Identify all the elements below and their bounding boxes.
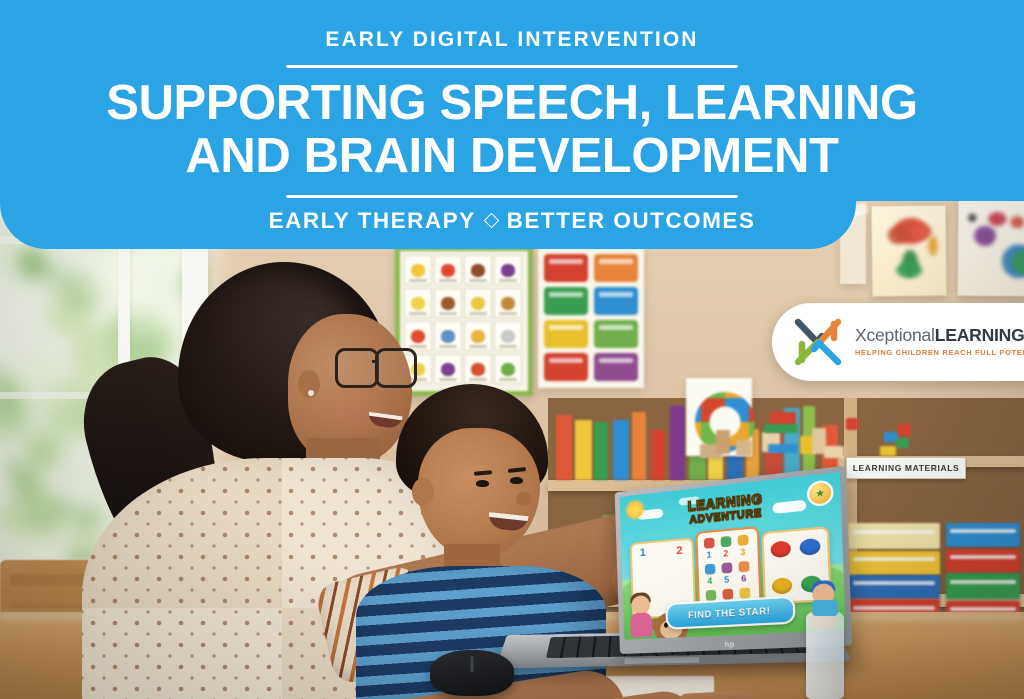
logo-name-bold: LEARNING <box>935 325 1024 345</box>
banner-headline: SUPPORTING SPEECH, LEARNING AND BRAIN DE… <box>106 77 917 183</box>
find-the-star-label: FIND THE STAR! <box>688 606 771 621</box>
banner-eyebrow: EARLY DIGITAL INTERVENTION <box>325 28 698 52</box>
color-dot-red[interactable] <box>770 540 791 558</box>
wooden-block <box>896 438 909 448</box>
grid-number[interactable]: 4 <box>707 575 712 586</box>
hp-logo: hp <box>725 641 735 649</box>
wooden-block <box>880 446 896 456</box>
game-avatar-girl <box>626 592 657 638</box>
grid-number[interactable]: 1 <box>706 549 711 560</box>
wooden-block <box>716 430 730 454</box>
grid-number[interactable]: 6 <box>741 573 746 584</box>
banner-subline: EARLY THERAPY BETTER OUTCOMES <box>269 208 756 234</box>
laptop-trackpad[interactable] <box>624 657 699 664</box>
grid-number[interactable]: 5 <box>724 574 729 585</box>
wooden-block <box>736 440 752 456</box>
x-mark-icon <box>790 316 846 368</box>
subline-left: EARLY THERAPY <box>269 208 476 234</box>
divider-bottom <box>286 195 738 198</box>
water-bottle <box>806 612 844 699</box>
logo-name: XceptionalLEARNING <box>855 327 1024 345</box>
logo-text: XceptionalLEARNING HELPING CHILDREN REAC… <box>855 327 1024 358</box>
divider-top <box>286 65 738 68</box>
poster-image: LEARNING MATERIALS <box>0 0 1024 699</box>
headline-line-2: AND BRAIN DEVELOPMENT <box>106 130 917 183</box>
wooden-block <box>824 446 844 458</box>
grid-number[interactable]: 3 <box>740 546 745 557</box>
bottle-cap <box>812 600 838 616</box>
color-dot-yellow[interactable] <box>772 577 793 594</box>
computer-mouse[interactable] <box>430 650 514 696</box>
wooden-block <box>898 424 911 436</box>
color-dot-blue[interactable] <box>799 538 820 556</box>
brand-logo[interactable]: XceptionalLEARNING HELPING CHILDREN REAC… <box>772 303 1024 381</box>
card-number: 1 <box>640 547 646 560</box>
logo-tagline: HELPING CHILDREN REACH FULL POTENTIAL <box>855 348 1024 357</box>
subline-right: BETTER OUTCOMES <box>507 208 756 234</box>
woman-index-finger <box>678 690 753 699</box>
header-content: EARLY DIGITAL INTERVENTION SUPPORTING SP… <box>0 0 1024 249</box>
wooden-block <box>768 444 798 453</box>
logo-name-light: Xceptional <box>855 325 935 345</box>
wooden-block <box>846 418 858 430</box>
headline-line-1: SUPPORTING SPEECH, LEARNING <box>106 76 917 130</box>
diamond-icon <box>483 213 499 229</box>
grid-number[interactable]: 2 <box>723 548 728 559</box>
wooden-block <box>764 424 798 433</box>
shelf-label: LEARNING MATERIALS <box>846 457 966 479</box>
card-number: 2 <box>676 544 683 557</box>
laptop: ★ LEARNING ADVENTURE 1 2 <box>508 492 838 682</box>
